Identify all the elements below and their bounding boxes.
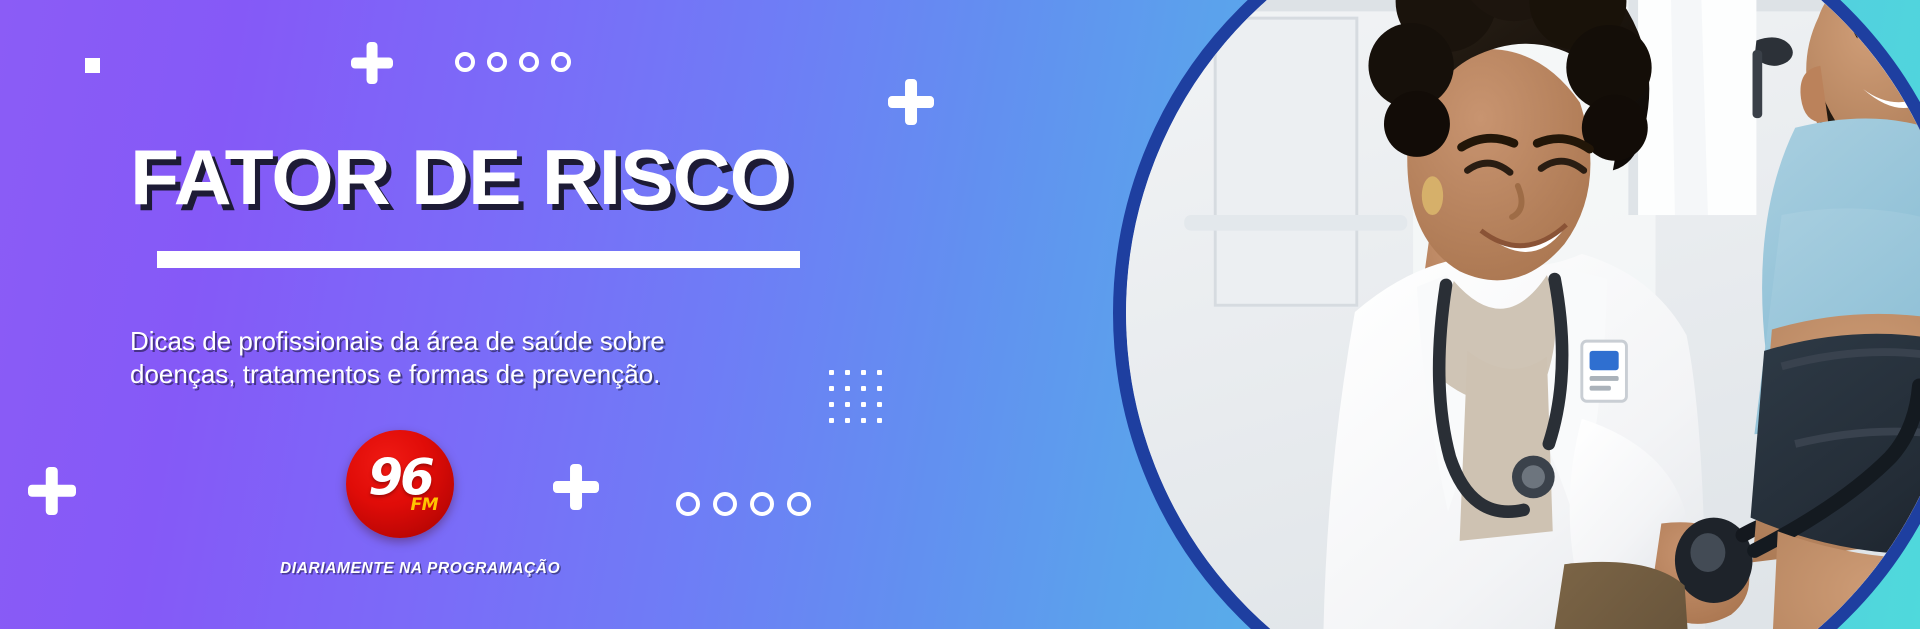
banner-subtitle: Dicas de profissionais da área de saúde … xyxy=(130,325,770,392)
photo-circle-frame xyxy=(1113,0,1920,629)
logo-fm-suffix: FM xyxy=(410,497,438,514)
title-underline-rule xyxy=(157,251,800,268)
fator-de-risco-banner: FATOR DE RISCO Dicas de profissionais da… xyxy=(0,0,1920,629)
photo-circle-image xyxy=(1126,0,1920,629)
banner-content: FATOR DE RISCO Dicas de profissionais da… xyxy=(0,0,900,629)
page-title: FATOR DE RISCO xyxy=(130,138,791,216)
logo-caption: DIARIAMENTE NA PROGRAMAÇÃO xyxy=(280,560,520,578)
logo-badge-circle: 96 FM xyxy=(346,430,454,538)
radio-logo: 96 FM DIARIAMENTE NA PROGRAMAÇÃO xyxy=(280,430,520,578)
health-professional-photo xyxy=(1126,0,1920,629)
